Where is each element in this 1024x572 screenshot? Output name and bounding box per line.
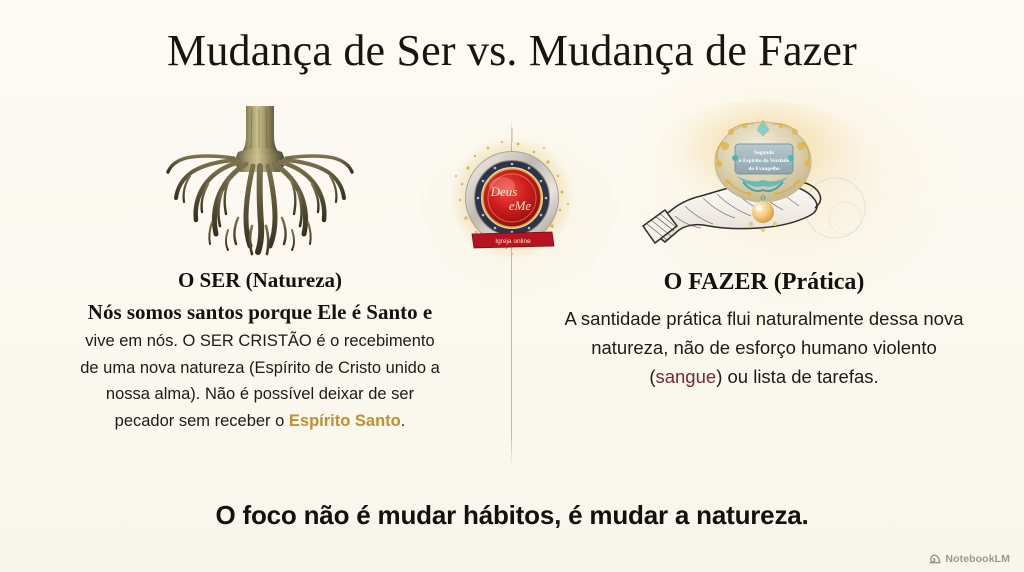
hand-holding-jeweled-ornament: Segundo o Espírito da Verdade do Evangel… [639,100,889,268]
ornament-inscription-line-3: do Evangelho [748,166,780,172]
left-column-body: vive em nós. O SER CRISTÃO é o recebimen… [80,328,440,435]
left-column: O SER (Natureza) Nós somos santos porque… [20,100,500,435]
right-body-part-2: ) ou lista de tarefas. [716,366,878,387]
hand-ornament-illustration-wrap: Segundo o Espírito da Verdade do Evangel… [524,100,1004,268]
ornament-inscription-line-2: o Espírito da Verdade [739,158,790,164]
left-column-lead: Nós somos santos porque Ele é Santo e [20,299,500,326]
right-column: Segundo o Espírito da Verdade do Evangel… [524,100,1004,391]
right-column-heading: O FAZER (Prática) [524,268,1004,297]
notebooklm-watermark: NotebookLM [929,553,1010,565]
page-title: Mudança de Ser vs. Mudança de Fazer [0,26,1024,75]
tree-roots-illustration [160,106,360,268]
slide-canvas: Mudança de Ser vs. Mudança de Fazer [0,0,1024,572]
left-column-heading: O SER (Natureza) [20,268,500,294]
notebooklm-spiral-icon [929,553,941,565]
emblem-script-deus: Deus [490,184,518,199]
ornament-inscription-line-1: Segundo [754,150,774,156]
right-column-body: A santidade prática flui naturalmente de… [564,305,964,391]
left-body-part-2: . [401,412,406,430]
footer-statement: O foco não é mudar hábitos, é mudar a na… [0,500,1024,531]
right-body-highlight: sangue [655,366,716,387]
left-body-highlight: Espírito Santo [289,412,401,430]
tree-roots-illustration-wrap [20,100,500,268]
notebooklm-watermark-label: NotebookLM [945,553,1010,565]
